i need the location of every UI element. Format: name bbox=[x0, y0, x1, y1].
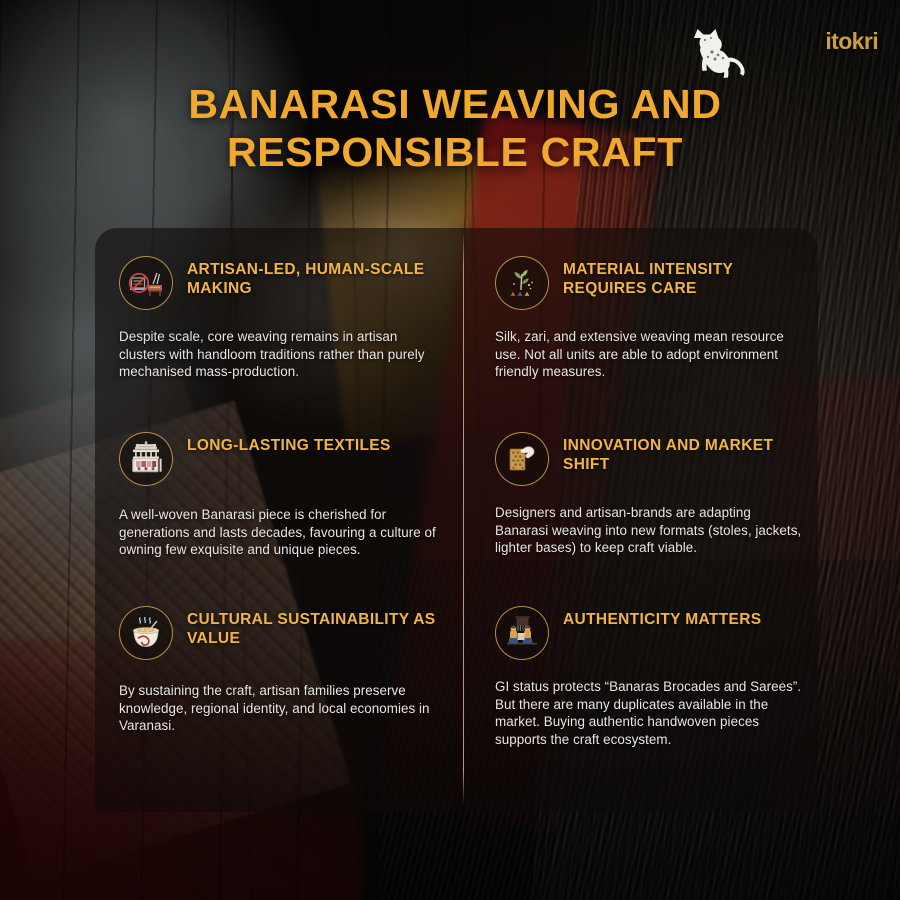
card-body: A well-woven Banarasi piece is cherished… bbox=[119, 506, 441, 559]
points-grid: ARTISAN-LED, HUMAN-SCALE MAKING Despite … bbox=[95, 228, 818, 812]
card-authenticity-matters: AUTHENTICITY MATTERS GI status protects … bbox=[463, 576, 818, 812]
cat-icon bbox=[678, 22, 750, 84]
card-header: MATERIAL INTENSITY REQUIRES CARE bbox=[495, 254, 802, 310]
card-title: LONG-LASTING TEXTILES bbox=[187, 430, 391, 455]
card-innovation-market-shift: INNOVATION AND MARKET SHIFT Designers an… bbox=[463, 400, 818, 576]
card-body: Despite scale, core weaving remains in a… bbox=[119, 328, 441, 381]
card-material-intensity: MATERIAL INTENSITY REQUIRES CARE Silk, z… bbox=[463, 228, 818, 400]
steaming-pot-icon bbox=[119, 606, 173, 660]
card-cultural-sustainability: CULTURAL SUSTAINABILITY AS VALUE By sust… bbox=[95, 576, 463, 812]
card-header: AUTHENTICITY MATTERS bbox=[495, 604, 802, 660]
brand-logo-text: itokri bbox=[825, 28, 878, 55]
card-header: ARTISAN-LED, HUMAN-SCALE MAKING bbox=[119, 254, 441, 310]
card-title: CULTURAL SUSTAINABILITY AS VALUE bbox=[187, 604, 441, 648]
hand-holding-fabric-icon bbox=[495, 432, 549, 486]
card-header: LONG-LASTING TEXTILES bbox=[119, 430, 441, 486]
heritage-building-icon bbox=[119, 432, 173, 486]
no-machine-loom-icon bbox=[119, 256, 173, 310]
card-title: INNOVATION AND MARKET SHIFT bbox=[563, 430, 802, 474]
artisans-seated-icon bbox=[495, 606, 549, 660]
card-body: Silk, zari, and extensive weaving mean r… bbox=[495, 328, 802, 381]
card-long-lasting-textiles: LONG-LASTING TEXTILES A well-woven Banar… bbox=[95, 400, 463, 576]
plant-sprout-dye-icon bbox=[495, 256, 549, 310]
brand-logo[interactable]: itokri bbox=[825, 28, 878, 55]
page-title: BANARASI WEAVING AND RESPONSIBLE CRAFT bbox=[110, 80, 800, 176]
poster-header: BANARASI WEAVING AND RESPONSIBLE CRAFT bbox=[0, 0, 900, 200]
card-body: Designers and artisan-brands are adaptin… bbox=[495, 504, 802, 557]
card-body: By sustaining the craft, artisan familie… bbox=[119, 682, 441, 735]
card-title: AUTHENTICITY MATTERS bbox=[563, 604, 761, 629]
card-header: CULTURAL SUSTAINABILITY AS VALUE bbox=[119, 604, 441, 660]
card-title: MATERIAL INTENSITY REQUIRES CARE bbox=[563, 254, 802, 298]
card-body: GI status protects “Banaras Brocades and… bbox=[495, 678, 802, 748]
card-header: INNOVATION AND MARKET SHIFT bbox=[495, 430, 802, 486]
card-title: ARTISAN-LED, HUMAN-SCALE MAKING bbox=[187, 254, 441, 298]
card-artisan-led: ARTISAN-LED, HUMAN-SCALE MAKING Despite … bbox=[95, 228, 463, 400]
infographic-poster: BANARASI WEAVING AND RESPONSIBLE CRAFT bbox=[0, 0, 900, 900]
